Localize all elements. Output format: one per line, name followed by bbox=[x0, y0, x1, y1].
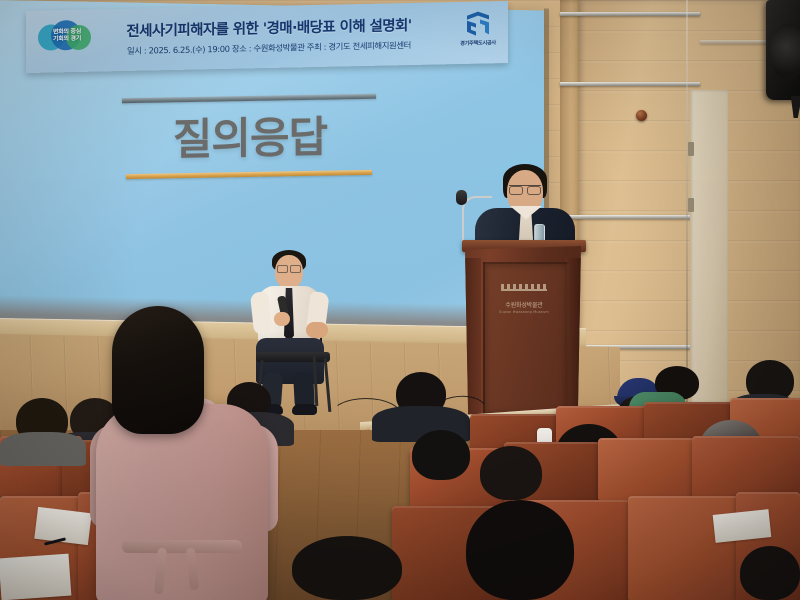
microphone-head-icon bbox=[456, 190, 467, 205]
door-seam bbox=[686, 0, 688, 430]
panelist-chair-seat bbox=[256, 352, 330, 362]
wall-trim-strip bbox=[560, 12, 700, 16]
speaker-cone-icon bbox=[770, 24, 800, 80]
woman-dress-belt bbox=[122, 540, 242, 553]
side-door[interactable] bbox=[690, 90, 728, 420]
door-hinge bbox=[688, 198, 694, 212]
eyeglasses-icon bbox=[509, 185, 541, 194]
panelist-hand bbox=[274, 312, 290, 326]
museum-name-korean: 수원화성박물관 bbox=[495, 300, 553, 309]
banner-text-block: 전세사기피해자를 위한 '경매·배당표 이해 설명회' 일시 : 2025. 6… bbox=[26, 15, 508, 59]
ceiling-loudspeaker bbox=[766, 0, 800, 100]
woman-dress bbox=[96, 404, 268, 600]
province-logo-line2: 기회의 경기 bbox=[44, 35, 90, 43]
auditorium-photo: 변화의 중심 기회의 경기 전세사기피해자를 위한 '경매·배당표 이해 설명회… bbox=[0, 0, 800, 600]
door-knob-icon[interactable] bbox=[636, 110, 647, 121]
audience-member-shoulders bbox=[0, 432, 86, 466]
event-banner: 변화의 중심 기회의 경기 전세사기피해자를 위한 '경매·배당표 이해 설명회… bbox=[26, 1, 508, 73]
auditorium-seat[interactable] bbox=[598, 438, 694, 500]
eyeglasses-icon bbox=[277, 265, 301, 272]
fortress-wall-icon bbox=[501, 284, 547, 297]
gh-logo-caption: 경기주택도시공사 bbox=[456, 39, 500, 47]
slide-heading: 질의응답 bbox=[120, 102, 380, 169]
audience-member-head bbox=[466, 500, 574, 600]
panelist-forearm bbox=[306, 322, 328, 338]
door-hinge bbox=[688, 142, 694, 156]
audience-member-head bbox=[292, 536, 402, 600]
notes-paper[interactable] bbox=[0, 554, 71, 600]
handout-paper[interactable] bbox=[713, 509, 772, 543]
gh-corporation-logo: 경기주택도시공사 bbox=[456, 9, 500, 56]
auditorium-seat[interactable] bbox=[692, 436, 800, 500]
panelist-right-shoe bbox=[292, 404, 317, 415]
gh-mark-icon bbox=[464, 9, 492, 38]
museum-name-english: Suwon Hwaseong Museum bbox=[495, 310, 553, 314]
audience-member-head bbox=[740, 546, 800, 600]
wall-trim-strip bbox=[560, 215, 695, 219]
museum-emblem: 수원화성박물관 Suwon Hwaseong Museum bbox=[495, 284, 553, 318]
auditorium-seat[interactable] bbox=[628, 496, 740, 600]
banner-subtitle: 일시 : 2025. 6.25.(수) 19:00 장소 : 수원화성박물관 주… bbox=[74, 38, 464, 58]
wall-trim-strip bbox=[560, 82, 700, 86]
audience-member-head bbox=[412, 430, 470, 480]
audience-member-head bbox=[480, 446, 542, 500]
woman-hair bbox=[112, 306, 204, 434]
gyeonggi-province-logo: 변화의 중심 기회의 경기 bbox=[38, 20, 94, 61]
